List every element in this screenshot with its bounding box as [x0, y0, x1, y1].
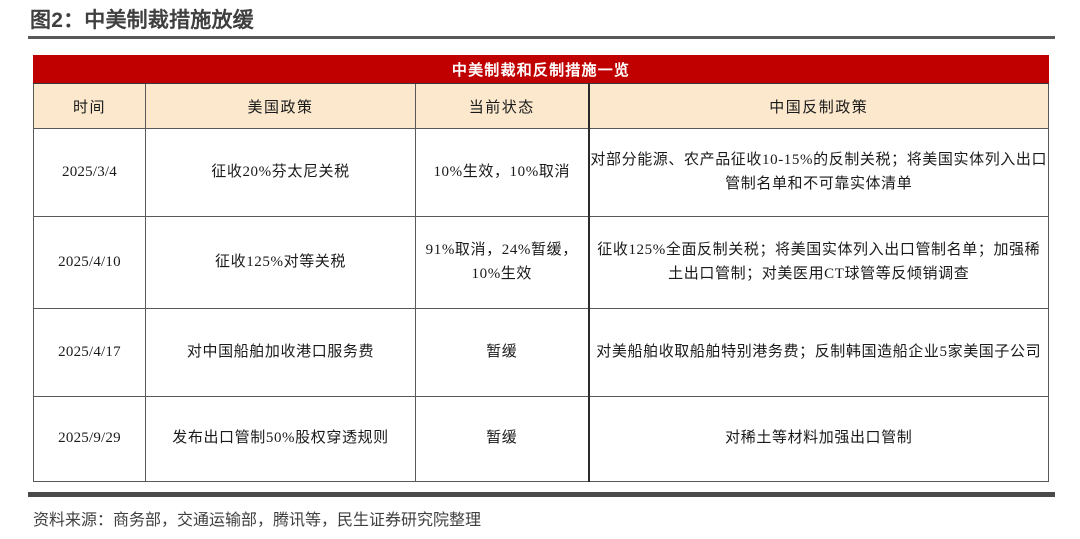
cell-us-policy: 征收20%芬太尼关税: [146, 129, 416, 217]
column-header-status: 当前状态: [416, 84, 589, 129]
table-banner-row: 中美制裁和反制措施一览: [34, 56, 1049, 84]
cell-cn-policy: 对部分能源、农产品征收10-15%的反制关税；将美国实体列入出口管制名单和不可靠…: [589, 129, 1049, 217]
cell-cn-policy: 征收125%全面反制关税；将美国实体列入出口管制名单；加强稀土出口管制；对美医用…: [589, 217, 1049, 309]
cell-status: 91%取消，24%暂缓，10%生效: [416, 217, 589, 309]
cell-time: 2025/9/29: [34, 397, 146, 482]
table-header-row: 时间 美国政策 当前状态 中国反制政策: [34, 84, 1049, 129]
cell-status: 暂缓: [416, 309, 589, 397]
cell-time: 2025/3/4: [34, 129, 146, 217]
column-header-us-policy: 美国政策: [146, 84, 416, 129]
cell-status: 10%生效，10%取消: [416, 129, 589, 217]
table-row: 2025/4/10 征收125%对等关税 91%取消，24%暂缓，10%生效 征…: [34, 217, 1049, 309]
title-divider: [28, 36, 1055, 39]
cell-cn-policy: 对美船舶收取船舶特别港务费；反制韩国造船企业5家美国子公司: [589, 309, 1049, 397]
column-header-cn-policy: 中国反制政策: [589, 84, 1049, 129]
figure-page: 图2：中美制裁措施放缓 中美制裁和反制措施一览 时间 美国政策 当前状态 中国反…: [0, 0, 1080, 539]
sanctions-table-container: 中美制裁和反制措施一览 时间 美国政策 当前状态 中国反制政策 2025/3/4…: [33, 55, 1048, 482]
table-banner-title: 中美制裁和反制措施一览: [34, 56, 1049, 84]
cell-us-policy: 对中国船舶加收港口服务费: [146, 309, 416, 397]
cell-us-policy: 征收125%对等关税: [146, 217, 416, 309]
table-row: 2025/3/4 征收20%芬太尼关税 10%生效，10%取消 对部分能源、农产…: [34, 129, 1049, 217]
source-note: 资料来源：商务部，交通运输部，腾讯等，民生证券研究院整理: [33, 506, 481, 530]
table-row: 2025/9/29 发布出口管制50%股权穿透规则 暂缓 对稀土等材料加强出口管…: [34, 397, 1049, 482]
sanctions-table: 中美制裁和反制措施一览 时间 美国政策 当前状态 中国反制政策 2025/3/4…: [33, 55, 1049, 482]
table-row: 2025/4/17 对中国船舶加收港口服务费 暂缓 对美船舶收取船舶特别港务费；…: [34, 309, 1049, 397]
cell-cn-policy: 对稀土等材料加强出口管制: [589, 397, 1049, 482]
cell-us-policy: 发布出口管制50%股权穿透规则: [146, 397, 416, 482]
cell-status: 暂缓: [416, 397, 589, 482]
cell-time: 2025/4/10: [34, 217, 146, 309]
figure-title: 图2：中美制裁措施放缓: [30, 4, 254, 34]
footer-divider: [28, 492, 1055, 497]
cell-time: 2025/4/17: [34, 309, 146, 397]
column-header-time: 时间: [34, 84, 146, 129]
